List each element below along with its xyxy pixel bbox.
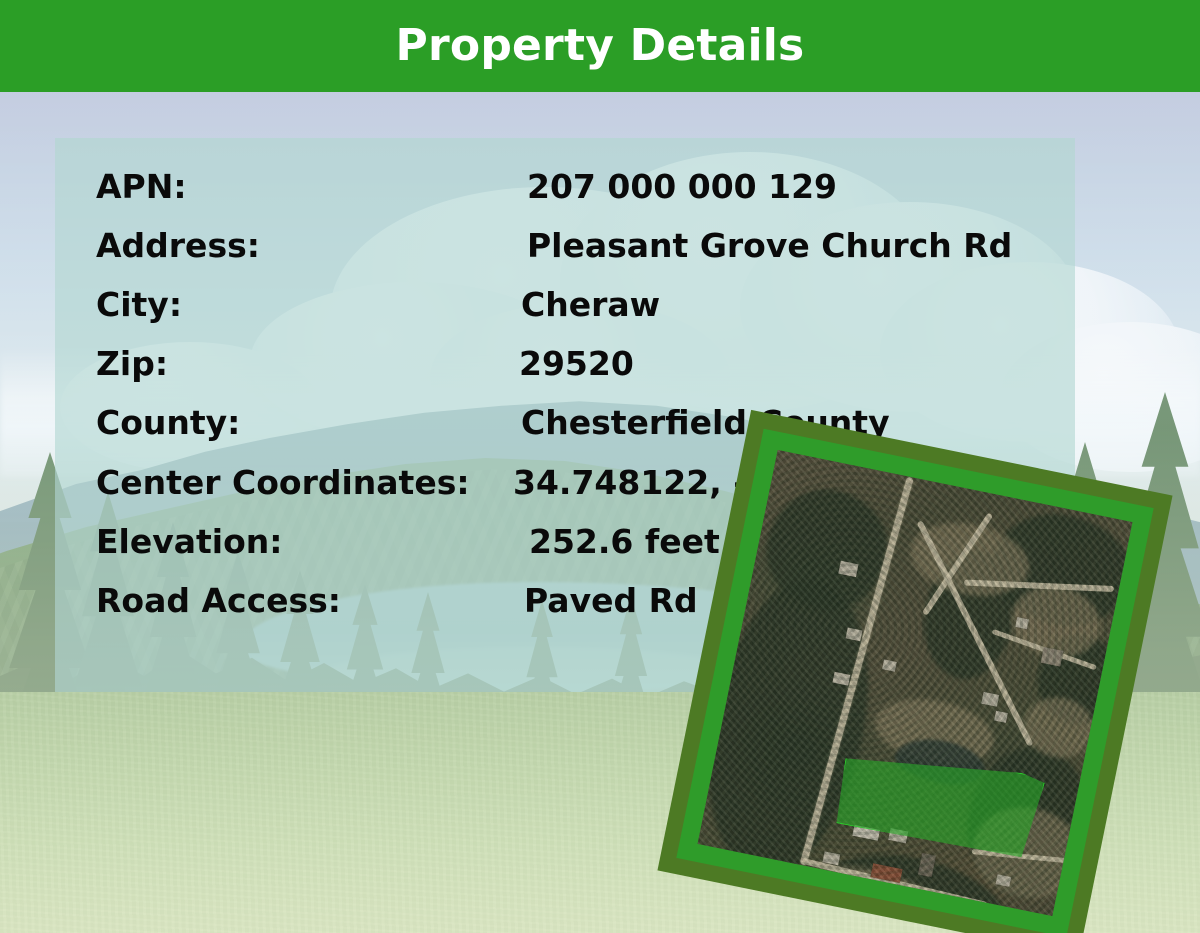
detail-row: Address:Pleasant Grove Church Rd	[55, 219, 1075, 271]
detail-value: Cheraw	[521, 288, 660, 321]
satellite-map-inset[interactable]	[657, 410, 1172, 933]
detail-label: City:	[96, 288, 182, 321]
detail-label: County:	[96, 406, 240, 439]
slide-canvas: Property Details APN:207 000 000 129Addr…	[0, 0, 1200, 933]
detail-row: City:Cheraw	[55, 278, 1075, 330]
detail-label: Road Access:	[96, 584, 341, 617]
detail-value: Paved Rd	[524, 584, 698, 617]
detail-label: Center Coordinates:	[96, 466, 470, 499]
detail-label: Elevation:	[96, 525, 282, 558]
detail-value: Pleasant Grove Church Rd	[527, 229, 1012, 262]
detail-value: 29520	[519, 347, 634, 380]
detail-label: Zip:	[96, 347, 168, 380]
detail-label: APN:	[96, 170, 187, 203]
detail-value: 207 000 000 129	[527, 170, 837, 203]
page-header: Property Details	[0, 0, 1200, 92]
detail-row: APN:207 000 000 129	[55, 160, 1075, 212]
page-title: Property Details	[396, 24, 805, 68]
detail-label: Address:	[96, 229, 260, 262]
map-inset-container	[690, 440, 1170, 933]
detail-row: Zip:29520	[55, 338, 1075, 390]
